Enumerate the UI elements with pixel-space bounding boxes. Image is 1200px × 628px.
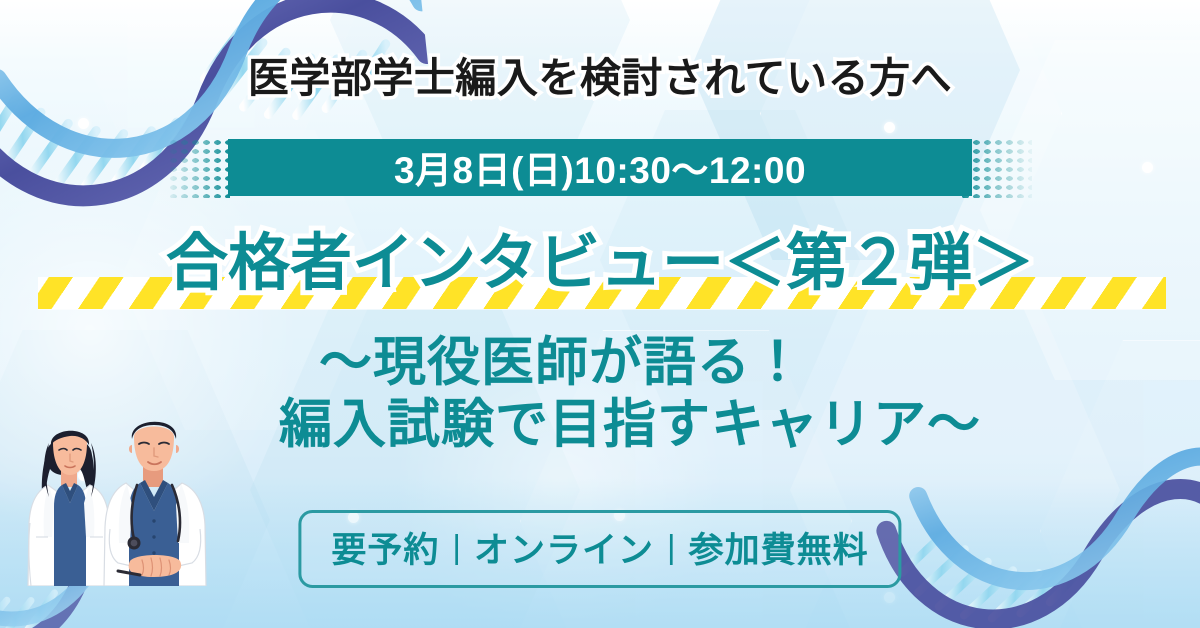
seminar-banner: 医学部学士編入を検討されている方へ 3月8日(日)10:30〜12:00 合格者… [0,0,1200,628]
badge-item-free: 参加費無料 [689,522,869,573]
subtitle-line-1: 〜現役医師が語る！ [0,332,1162,394]
main-title: 合格者インタビュー＜第２弾＞ [0,212,1200,302]
date-time-text: 3月8日(日)10:30〜12:00 [394,140,806,194]
badge-item-online: オンライン [474,522,654,573]
two-doctors-illustration [18,411,248,586]
headline: 医学部学士編入を検討されている方へ [0,44,1200,104]
badge-item-reservation: 要予約 [331,522,439,573]
date-time-bar: 3月8日(日)10:30〜12:00 [228,139,972,196]
halftone-dots-left [168,138,230,198]
badge-separator: | [667,528,676,566]
badge-separator: | [452,528,461,566]
info-badge: 要予約 | オンライン | 参加費無料 [298,510,901,588]
